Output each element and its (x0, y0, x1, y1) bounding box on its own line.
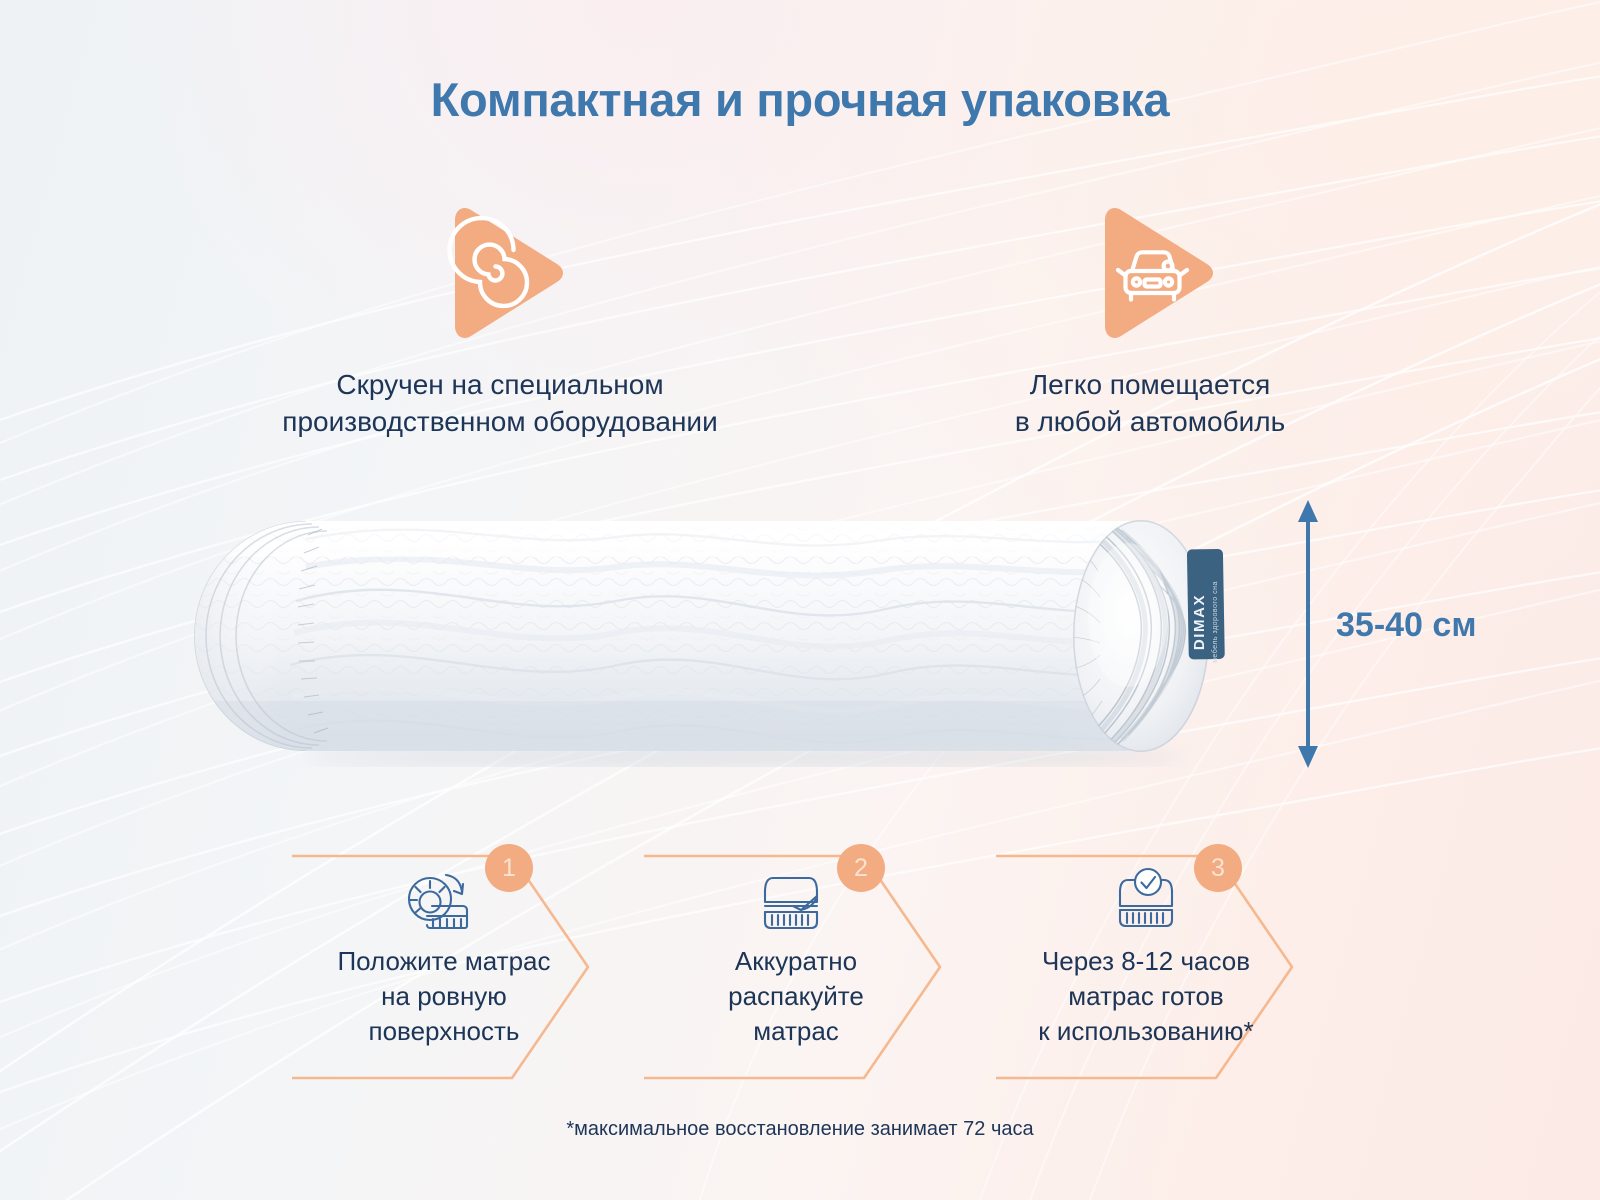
step-item-1: 1 (290, 838, 650, 1096)
feature-block-car: Легко помещается в любой автомобиль (840, 198, 1460, 440)
spiral-roll-icon (425, 198, 575, 348)
step-icon-wrap-3 (994, 866, 1354, 938)
dimension-indicator: 35-40 см (1288, 498, 1508, 770)
step-item-2: 2 (642, 838, 1002, 1096)
step-caption-1: Положите матрас на ровную поверхность (284, 944, 604, 1049)
feature-icon-badge-rolled (140, 198, 860, 348)
brand-tagline: мебель здорового сна (1211, 581, 1219, 663)
step-icon-wrap-1 (290, 866, 650, 938)
brand-label: DIMAX мебель здорового сна (1187, 549, 1225, 663)
feature-caption-car: Легко помещается в любой автомобиль (840, 366, 1460, 440)
infographic-canvas: Компактная и прочная упаковка Скручен на… (0, 0, 1600, 1200)
feature-icon-badge-car (840, 198, 1460, 348)
unwrap-mattress-icon (753, 866, 829, 938)
brand-name: DIMAX (1191, 594, 1208, 650)
mattress-check-icon (1108, 866, 1184, 938)
car-front-icon (1075, 198, 1225, 348)
step-item-3: 3 Через 8- (994, 838, 1354, 1096)
step-caption-3: Через 8-12 часов матрас готов к использо… (976, 944, 1316, 1049)
feature-caption-rolled: Скручен на специальном производственном … (140, 366, 860, 440)
feature-block-rolled: Скручен на специальном производственном … (140, 198, 860, 440)
rolled-mattress-arrow-icon (399, 866, 479, 938)
step-icon-wrap-2 (642, 866, 1002, 938)
footnote-text: *максимальное восстановление занимает 72… (0, 1118, 1600, 1141)
dimension-value: 35-40 см (1336, 606, 1476, 645)
step-caption-2: Аккуратно распакуйте матрас (636, 944, 956, 1049)
instruction-steps: 1 (290, 838, 1290, 1096)
page-title: Компактная и прочная упаковка (0, 72, 1600, 127)
rolled-mattress-image: DIMAX мебель здорового сна (186, 505, 1270, 767)
double-arrow-vertical-icon (1288, 498, 1328, 770)
